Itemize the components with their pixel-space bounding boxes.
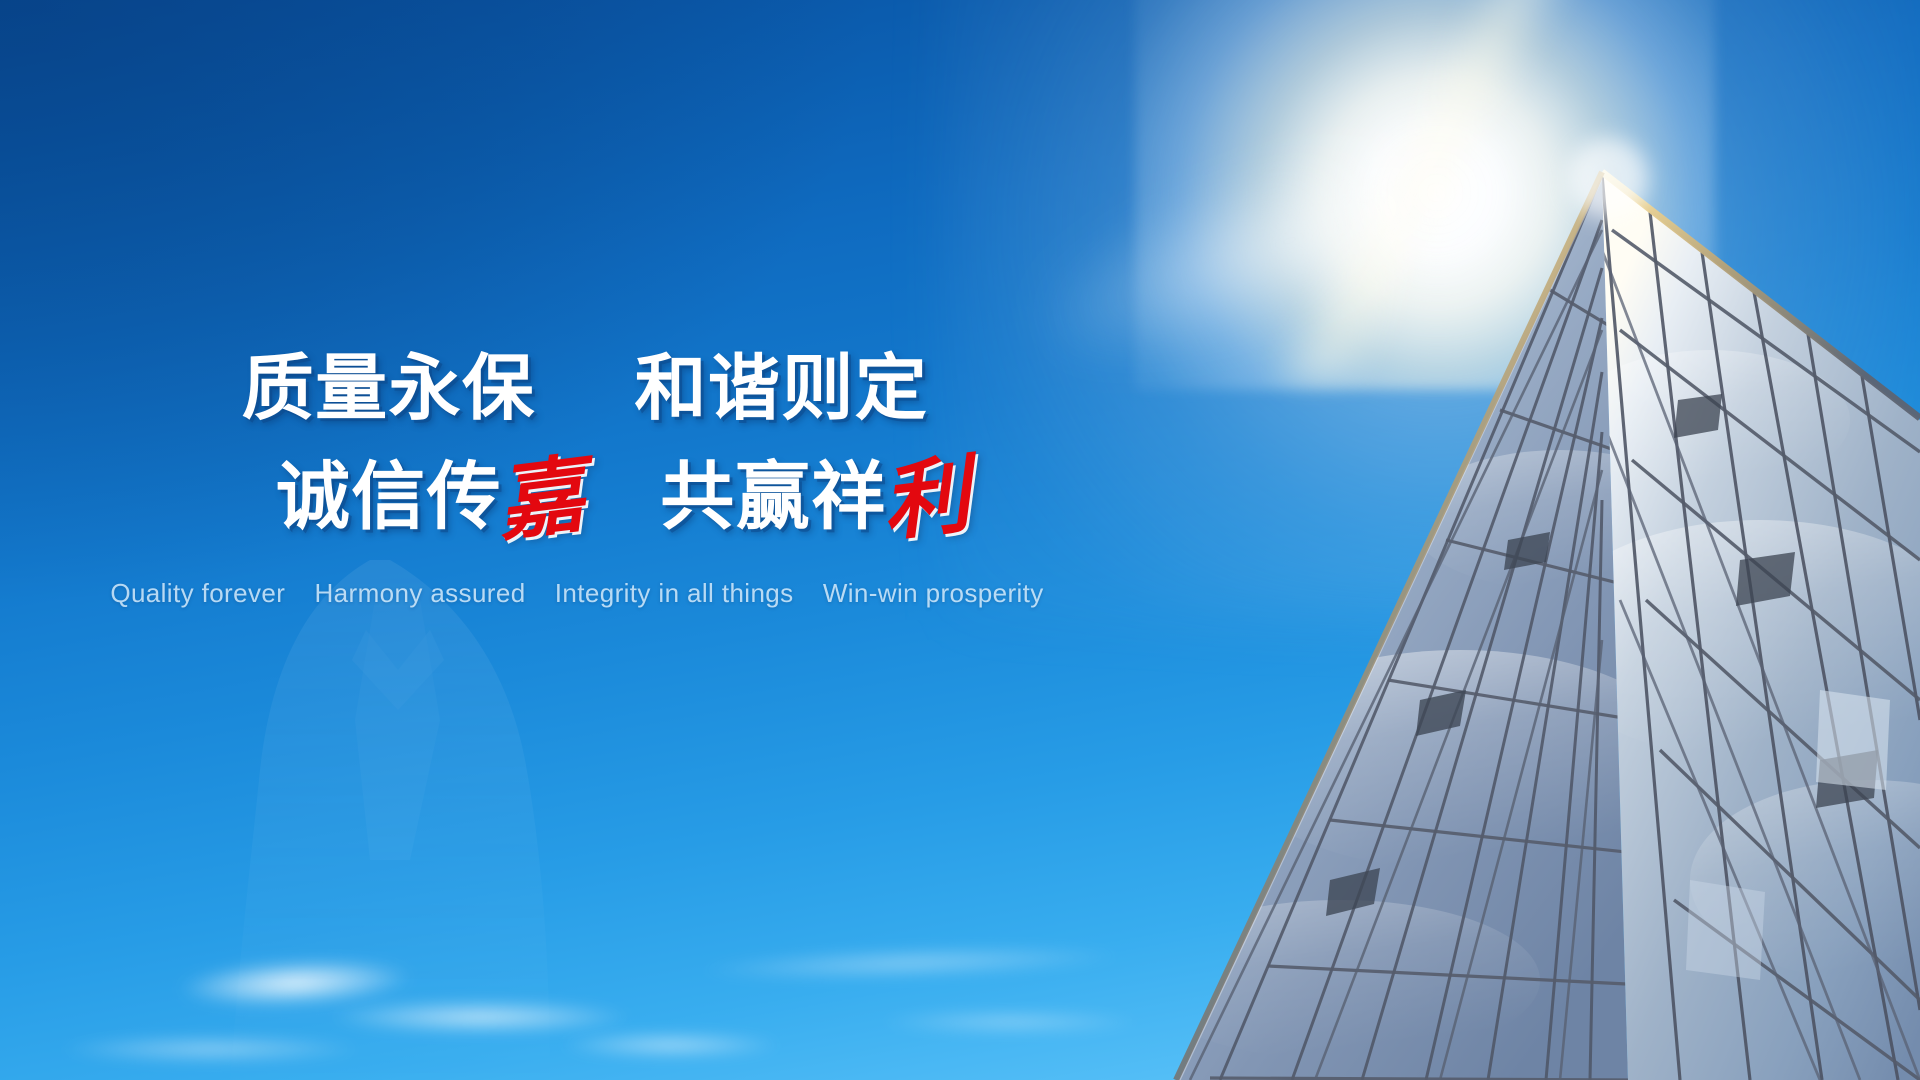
hero-banner: 质量永保 和谐则定 诚信传嘉 共赢祥利 Quality forever Harm… (0, 0, 1920, 1080)
subtitle-seg-2: Harmony assured (315, 578, 526, 608)
brush-character-li: 利 (877, 449, 976, 550)
headline-line-1: 质量永保 和谐则定 (0, 350, 1130, 428)
headline-line2-part-a: 诚信传 (276, 454, 502, 540)
brush-character-jia: 嘉 (492, 449, 591, 550)
headline-line2-part-b: 共赢祥 (660, 454, 886, 540)
subtitle-seg-1: Quality forever (110, 578, 285, 608)
headline-line1-part-b: 和谐则定 (635, 346, 929, 430)
subtitle-seg-3: Integrity in all things (555, 578, 794, 608)
banner-copy: 质量永保 和谐则定 诚信传嘉 共赢祥利 Quality forever Harm… (0, 350, 1130, 609)
subtitle-seg-4: Win-win prosperity (823, 578, 1044, 608)
headline-line-2: 诚信传嘉 共赢祥利 (0, 448, 1130, 539)
banner-subtitle: Quality forever Harmony assured Integrit… (0, 578, 1130, 609)
headline-line1-part-a: 质量永保 (242, 346, 536, 430)
